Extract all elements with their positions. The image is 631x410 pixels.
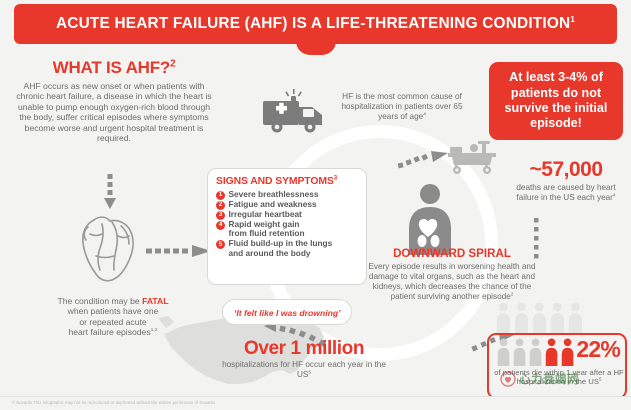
page-title: ACUTE HEART FAILURE (AHF) IS A LIFE-THRE… — [56, 15, 575, 33]
dotted-arrow-right-icon — [146, 244, 212, 258]
fatal-emphasis: FATAL — [142, 296, 168, 306]
fatal-reference: 1,2 — [151, 328, 158, 334]
symptom-label: Severe breathlessness — [229, 190, 319, 199]
person-pictogram-icon — [550, 302, 565, 334]
symptom-number-badge: 3 — [216, 211, 225, 220]
hospitalizations-caption: hospitalizations for HF occur each year … — [216, 360, 392, 380]
person-pictogram-icon — [545, 338, 558, 366]
what-is-ahf-title: WHAT IS AHF?2 — [16, 58, 212, 78]
mortality-percent: 22% — [576, 336, 620, 363]
dotted-arrow-curve-icon — [398, 150, 450, 172]
downward-spiral-body: Every episode results in worsening healt… — [368, 262, 536, 302]
header-banner: ACUTE HEART FAILURE (AHF) IS A LIFE-THRE… — [14, 4, 617, 44]
person-pictogram-icon — [496, 302, 511, 334]
survival-callout-box: At least 3-4% of patients do not survive… — [489, 62, 623, 140]
downward-spiral-reference: 2 — [511, 292, 514, 297]
patient-quote-bubble: ‘It felt like I was drowning’ — [222, 299, 352, 325]
ambulance-caption: HF is the most common cause of hospitali… — [333, 92, 471, 122]
patient-quote-text: ‘It felt like I was drowning’ — [234, 308, 340, 318]
hospital-bed-icon — [444, 133, 500, 179]
deaths-statistic: ~57,000 deaths are caused by heart failu… — [505, 158, 627, 203]
hospitalizations-value: Over 1 million — [216, 338, 392, 360]
dotted-arrow-down-right-icon — [528, 218, 544, 262]
symptoms-reference: 3 — [334, 176, 337, 182]
symptom-number-badge: 4 — [216, 221, 225, 230]
dotted-arrow-down-icon — [103, 174, 117, 210]
downward-spiral-title: DOWNWARD SPIRAL — [368, 247, 536, 260]
fatal-statement: The condition may be FATAL when patients… — [18, 296, 208, 338]
people-pictogram-background — [496, 300, 614, 334]
hospitalizations-statistic: Over 1 million hospitalizations for HF o… — [216, 338, 392, 380]
deaths-value: ~57,000 — [505, 158, 627, 182]
what-is-ahf-body: AHF occurs as new onset or when patients… — [16, 81, 212, 144]
infographic-canvas: ACUTE HEART FAILURE (AHF) IS A LIFE-THRE… — [0, 0, 631, 410]
header-notch — [296, 41, 336, 55]
heart-icon — [72, 210, 146, 286]
copyright-text: © Novartis This infographic may not be r… — [12, 400, 215, 405]
person-pictogram-icon — [568, 302, 583, 334]
symptom-label: Fluid build-up in the lungsand around th… — [229, 239, 333, 258]
ambulance-reference: 4 — [423, 112, 426, 117]
person-with-organs-icon — [404, 183, 456, 255]
hospitalizations-reference: 5 — [308, 370, 311, 375]
fatal-line-3: or repeated acute — [79, 317, 146, 327]
person-pictogram-icon — [561, 338, 574, 366]
person-pictogram-icon — [529, 338, 542, 366]
what-is-ahf-reference: 2 — [170, 58, 175, 69]
person-pictogram-icon — [497, 338, 510, 366]
survival-callout-text: At least 3-4% of patients do not survive… — [495, 70, 617, 131]
symptom-number-badge: 5 — [216, 240, 225, 249]
fatal-line-4: heart failure episodes — [68, 327, 150, 337]
people-pictogram-row — [497, 338, 574, 366]
footer-bar: © Novartis This infographic may not be r… — [0, 396, 631, 410]
watermark-text: 心力衰竭网 — [519, 371, 579, 387]
person-pictogram-icon — [514, 302, 529, 334]
signs-and-symptoms-card: SIGNS AND SYMPTOMS3 1Severe breathlessne… — [207, 168, 367, 285]
ambulance-icon — [262, 88, 328, 138]
what-is-ahf-section: WHAT IS AHF?2 AHF occurs as new onset or… — [16, 58, 212, 144]
symptom-label: Irregular heartbeat — [229, 210, 302, 219]
deaths-reference: 4 — [613, 193, 616, 198]
symptom-item: 4Rapid weight gainfrom fluid retention — [216, 220, 358, 239]
symptom-label: Fatigue and weakness — [229, 200, 317, 209]
fatal-line-2: when patients have one — [68, 306, 159, 316]
symptoms-list: 1Severe breathlessness2Fatigue and weakn… — [216, 190, 358, 258]
header-title-reference: 1 — [570, 15, 575, 24]
person-pictogram-icon — [532, 302, 547, 334]
fatal-lead-text: The condition may be — [58, 296, 143, 306]
site-watermark: 心力衰竭网 — [500, 368, 618, 390]
downward-spiral-section: DOWNWARD SPIRAL Every episode results in… — [368, 247, 536, 302]
watermark-logo-icon — [500, 371, 516, 387]
symptoms-title: SIGNS AND SYMPTOMS3 — [216, 176, 358, 187]
symptom-number-badge: 1 — [216, 191, 225, 200]
symptom-label: Rapid weight gainfrom fluid retention — [229, 220, 305, 239]
symptom-item: 5Fluid build-up in the lungsand around t… — [216, 239, 358, 258]
deaths-caption: deaths are caused by heart failure in th… — [505, 183, 627, 203]
symptom-number-badge: 2 — [216, 201, 225, 210]
person-pictogram-icon — [513, 338, 526, 366]
